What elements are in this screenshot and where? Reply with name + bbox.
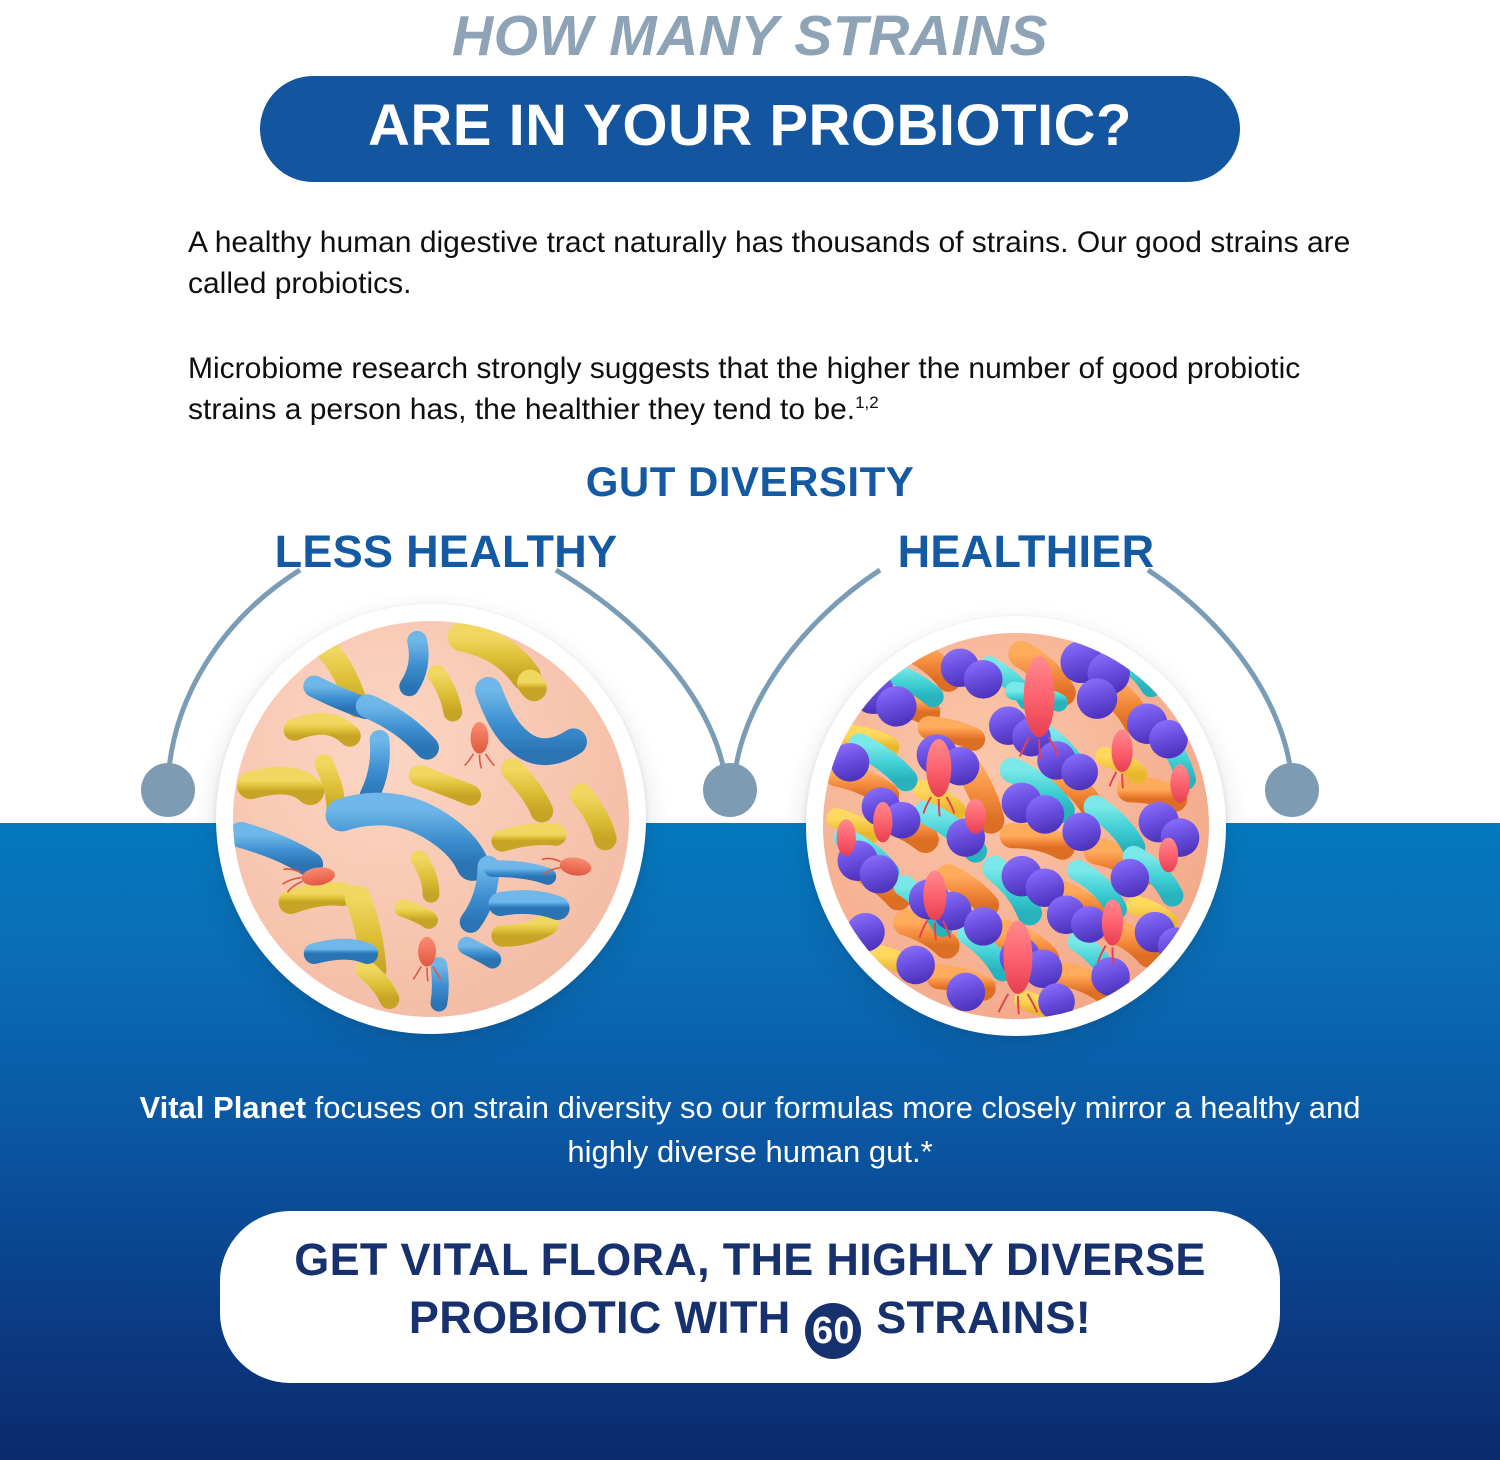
cta-strain-count-badge: 60 <box>805 1303 861 1359</box>
petri-dish-inner-less-healthy <box>233 621 629 1017</box>
intro-paragraph-1: A healthy human digestive tract naturall… <box>188 222 1378 304</box>
header-title-pill: ARE IN YOUR PROBIOTIC? <box>260 76 1240 182</box>
brand-tagline-rest: focuses on strain diversity so our formu… <box>306 1090 1360 1169</box>
petri-dish-inner-healthier <box>823 633 1209 1019</box>
petri-dish-icon-healthier <box>806 616 1226 1036</box>
cta-wrapper: GET VITAL FLORA, THE HIGHLY DIVERSE PROB… <box>0 1211 1500 1383</box>
label-less-healthy: LESS HEALTHY <box>196 526 696 578</box>
cta-line-2-before: PROBIOTIC WITH <box>409 1292 791 1343</box>
gut-diversity-heading: GUT DIVERSITY <box>0 458 1500 506</box>
header-kicker: HOW MANY STRAINS <box>0 0 1500 68</box>
cta-line-1: GET VITAL FLORA, THE HIGHLY DIVERSE <box>290 1231 1210 1289</box>
microbe-field-less-healthy <box>233 621 629 1017</box>
cta-button[interactable]: GET VITAL FLORA, THE HIGHLY DIVERSE PROB… <box>220 1211 1280 1383</box>
brand-name: Vital Planet <box>140 1090 307 1125</box>
label-healthier: HEALTHIER <box>776 526 1276 578</box>
header-title-wrap: ARE IN YOUR PROBIOTIC? <box>0 76 1500 182</box>
header: HOW MANY STRAINS ARE IN YOUR PROBIOTIC? <box>0 0 1500 182</box>
intro-footnote-superscript: 1,2 <box>855 393 879 412</box>
microbe-field-healthier <box>823 633 1209 1019</box>
petri-dish-icon-less-healthy <box>216 604 646 1034</box>
header-title: ARE IN YOUR PROBIOTIC? <box>316 90 1184 162</box>
cta-line-2-after: STRAINS! <box>876 1292 1091 1343</box>
intro-paragraph-2: Microbiome research strongly suggests th… <box>188 348 1378 430</box>
intro-text-block: A healthy human digestive tract naturall… <box>188 222 1378 430</box>
intro-paragraph-2-main: Microbiome research strongly suggests th… <box>188 352 1300 426</box>
cta-line-2: PROBIOTIC WITH 60 STRAINS! <box>290 1289 1210 1359</box>
brand-tagline: Vital Planet focuses on strain diversity… <box>120 1086 1380 1174</box>
